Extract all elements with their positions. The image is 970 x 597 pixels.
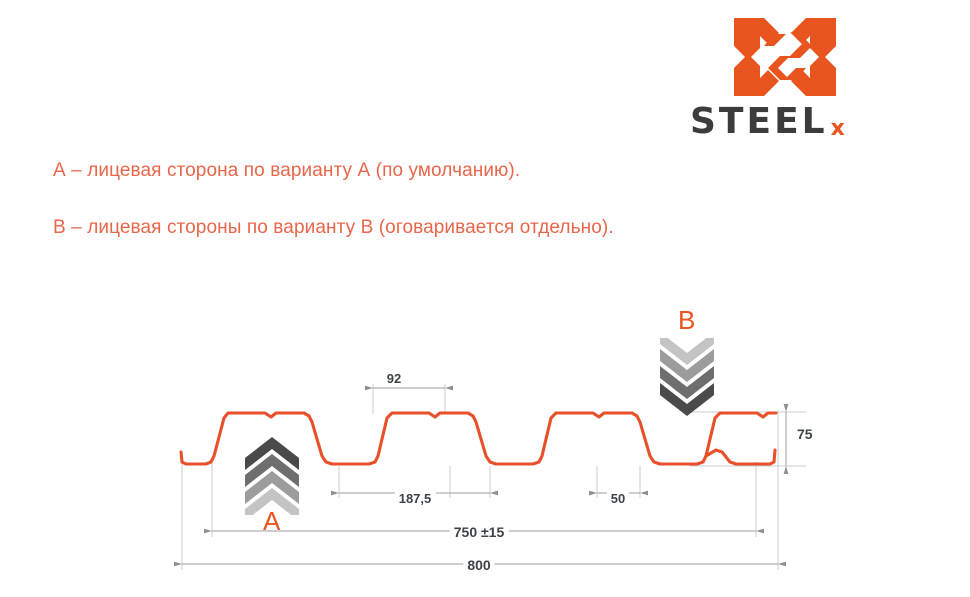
profile-cross-section-drawing (0, 0, 970, 597)
marker-b-chevron-stack (660, 338, 714, 416)
dimension-label-800: 800 (463, 557, 494, 573)
profile-drawing-page: STEEL x А – лицевая сторона по варианту … (0, 0, 970, 597)
dimension-label-750: 750 ±15 (450, 524, 509, 540)
marker-b-letter: В (678, 307, 695, 333)
profile-right-return (706, 450, 775, 464)
dimension-label-50: 50 (607, 491, 629, 506)
dimension-label-92: 92 (383, 371, 405, 386)
dimension-label-75: 75 (793, 426, 817, 442)
marker-a-letter: А (263, 508, 280, 534)
dimension-label-187-5: 187,5 (395, 491, 436, 506)
marker-a-chevron-stack (245, 437, 299, 515)
